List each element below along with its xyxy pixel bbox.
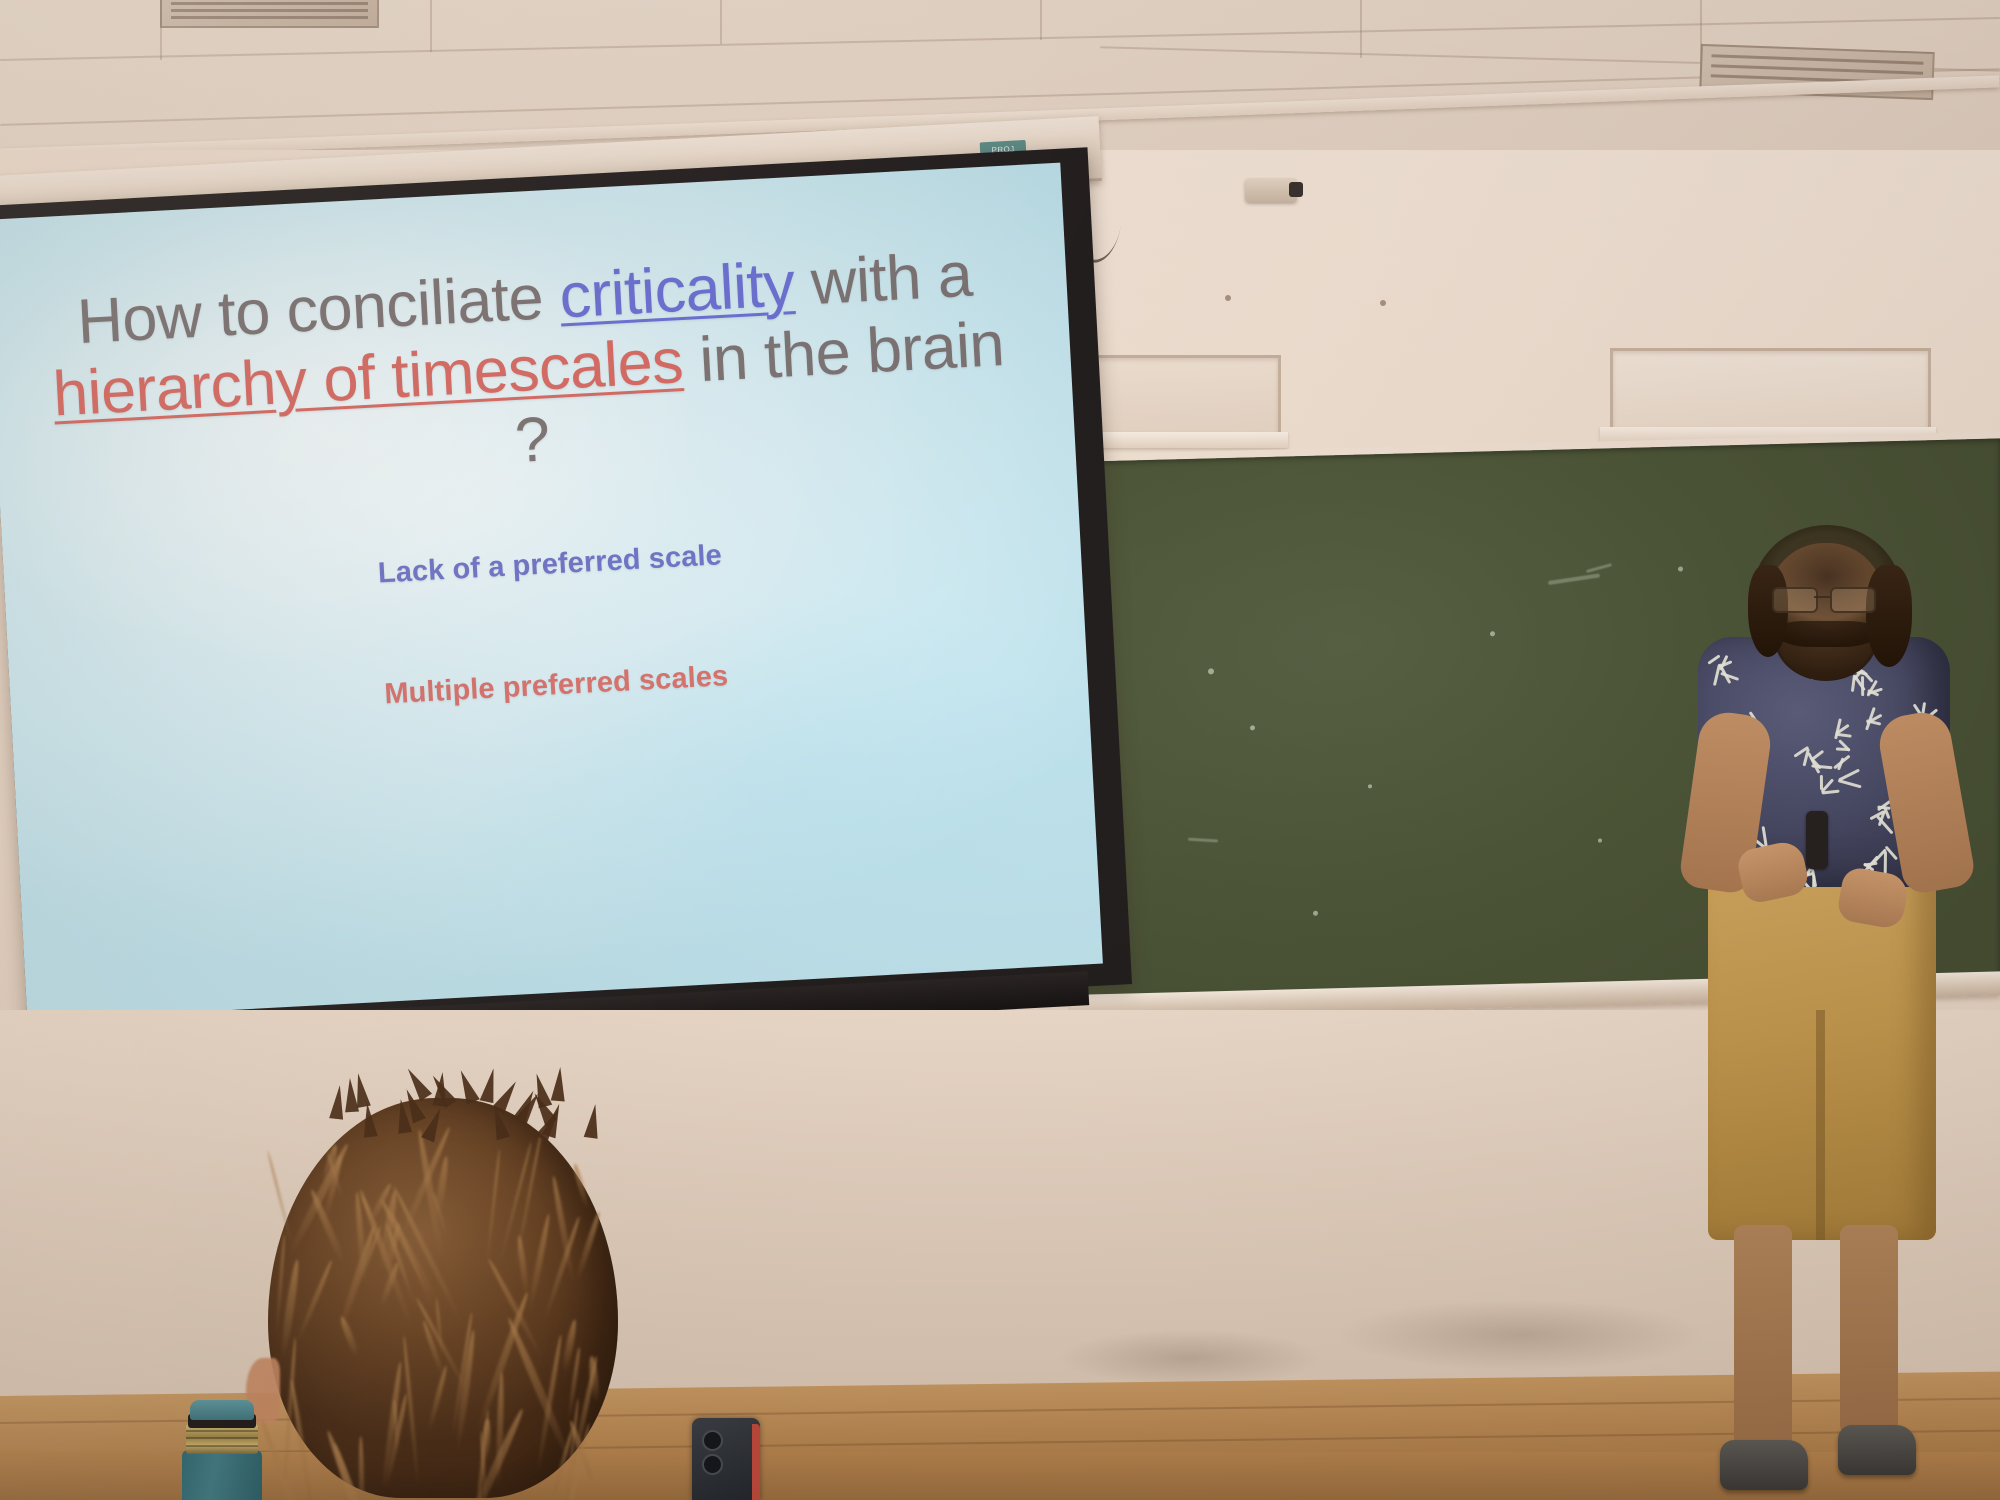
slide-title-part-4: in the (681, 317, 852, 396)
thermos-metal-ring (186, 1424, 258, 1454)
thermos-body (182, 1450, 262, 1500)
slide-bullet-list: Lack of a preferred scale Multiple prefe… (44, 522, 1041, 728)
presenter-hair-right-side (1866, 565, 1912, 667)
ceiling-vent-left (160, 0, 379, 28)
presenter (1690, 525, 2000, 1500)
hair-spike (360, 1102, 378, 1137)
projector-screen-surface: How to conciliate criticality with a hie… (0, 163, 1103, 1021)
presenter-right-leg (1840, 1225, 1898, 1435)
recess-sill-left (1078, 432, 1288, 448)
camera-lens-icon (702, 1430, 723, 1451)
lecture-hall-photo: PROJ How to conciliate criticality with … (0, 0, 2000, 1500)
slide-title: How to conciliate criticality with a hie… (29, 237, 1029, 503)
phone-case-edge (752, 1424, 760, 1500)
glasses-icon (1772, 587, 1882, 609)
thermos-cap[interactable] (190, 1400, 254, 1420)
shirt-leaf-motif (1884, 852, 1887, 875)
smartphone[interactable] (692, 1418, 760, 1500)
presenter-left-shoe (1720, 1440, 1808, 1490)
ceiling-sensor (1245, 178, 1297, 202)
glasses-right-lens (1830, 587, 1876, 613)
shirt-leaf-motif (1719, 660, 1732, 668)
slide-title-part-3: a (936, 240, 974, 312)
slide-title-part-2: with (792, 242, 922, 319)
hair-spike (551, 1067, 568, 1102)
shirt-leaf-motif (1812, 875, 1815, 887)
slide-content: How to conciliate criticality with a hie… (29, 237, 1046, 816)
wall-recess-right (1610, 348, 1931, 434)
slide-bullet-multiple-preferred-scales: Multiple preferred scales (72, 643, 1040, 727)
slide-bullet-lack-of-preferred-scale: Lack of a preferred scale (66, 522, 1034, 606)
audience-hair-mass (268, 1098, 618, 1498)
glasses-left-lens (1772, 587, 1818, 613)
hair-spike (329, 1084, 347, 1119)
glasses-bridge (1814, 596, 1830, 598)
shirt-leaf-motif (1851, 675, 1856, 692)
camera-lens-secondary-icon (702, 1454, 723, 1475)
audience-member-head (228, 1058, 658, 1500)
shirt-leaf-motif (1838, 779, 1862, 788)
slide-title-highlight-criticality: criticality (558, 249, 796, 331)
wall-recess-left (1085, 355, 1281, 439)
presenter-left-leg (1734, 1225, 1792, 1455)
hair-spike (584, 1103, 603, 1139)
shirt-leaf-motif (1821, 790, 1839, 795)
projector-screen-frame: How to conciliate criticality with a hie… (0, 147, 1132, 1043)
thermos-flask[interactable] (176, 1398, 268, 1500)
presentation-clicker[interactable] (1806, 811, 1828, 869)
presenter-right-shoe (1838, 1425, 1916, 1475)
